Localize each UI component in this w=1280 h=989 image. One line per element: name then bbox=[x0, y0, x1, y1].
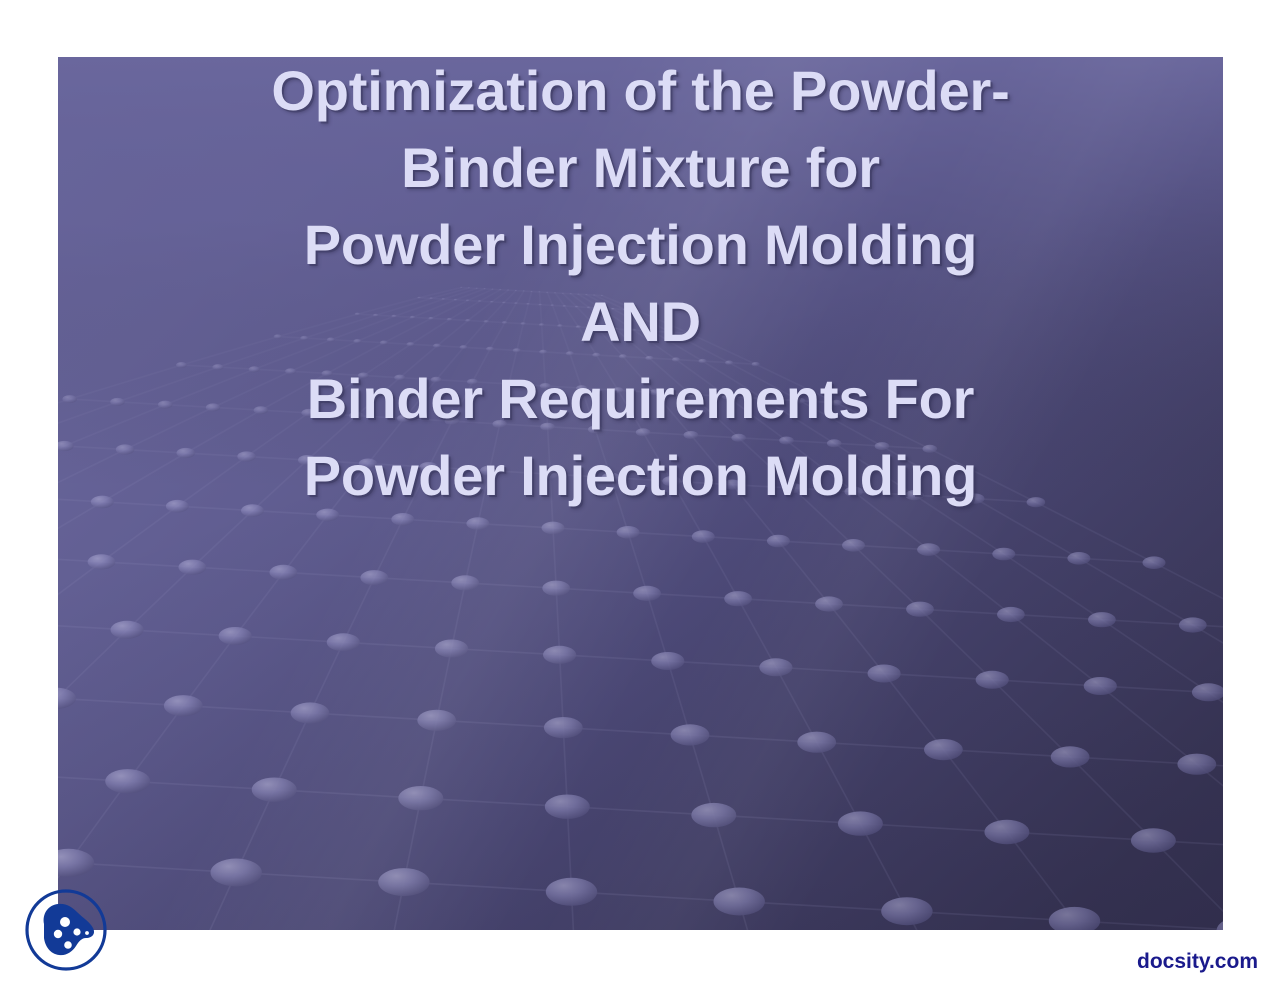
title-line-6: Powder Injection Molding bbox=[58, 437, 1223, 514]
slide-canvas: Optimization of the Powder- Binder Mixtu… bbox=[58, 57, 1223, 930]
page-root: Optimization of the Powder- Binder Mixtu… bbox=[0, 0, 1280, 989]
title-line-1: Optimization of the Powder- bbox=[58, 57, 1223, 129]
docsity-logo-icon bbox=[22, 886, 110, 974]
slide-sheen bbox=[58, 57, 1223, 930]
title-line-2: Binder Mixture for bbox=[58, 129, 1223, 206]
lattice-background bbox=[58, 57, 1223, 930]
title-line-4: AND bbox=[58, 283, 1223, 360]
title-line-3: Powder Injection Molding bbox=[58, 206, 1223, 283]
docsity-url-label: docsity.com bbox=[1137, 950, 1258, 974]
slide-vignette bbox=[58, 57, 1223, 930]
slide-title: Optimization of the Powder- Binder Mixtu… bbox=[58, 57, 1223, 514]
title-line-5: Binder Requirements For bbox=[58, 360, 1223, 437]
